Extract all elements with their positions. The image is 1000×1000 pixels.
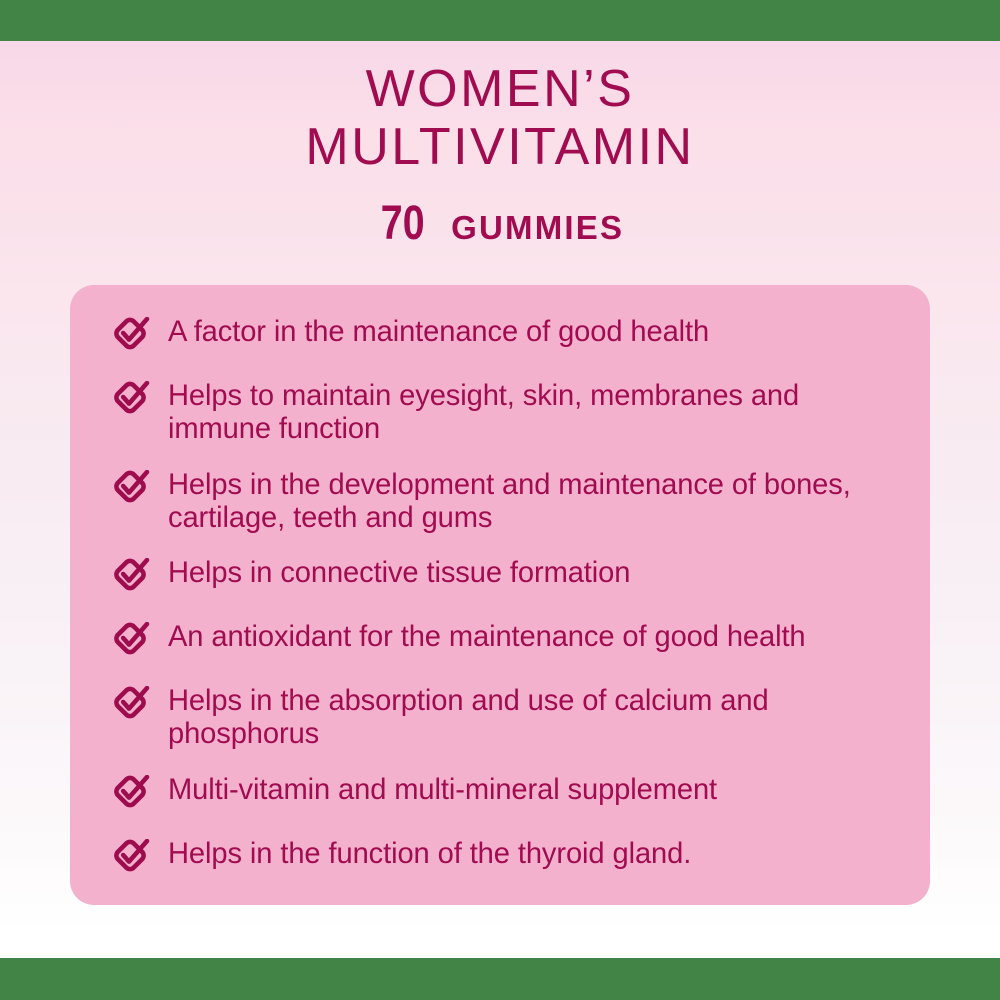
gummy-count-number: 70 — [381, 200, 425, 248]
check-diamond-icon — [108, 686, 152, 726]
product-heading: WOMEN’S MULTIVITAMIN 70 GUMMIES — [0, 60, 1000, 248]
list-item: Multi-vitamin and multi-mineral suppleme… — [108, 773, 896, 815]
product-title-line-1: WOMEN’S — [0, 60, 1000, 118]
list-item-label: Helps in connective tissue formation — [168, 556, 630, 589]
list-item-label: Helps to maintain eyesight, skin, membra… — [168, 379, 874, 445]
top-green-band — [0, 0, 1000, 41]
list-item-label: An antioxidant for the maintenance of go… — [168, 620, 806, 653]
list-item: A factor in the maintenance of good heal… — [108, 315, 896, 357]
check-diamond-icon — [108, 381, 152, 421]
product-title-line-2: MULTIVITAMIN — [0, 118, 1000, 176]
list-item-label: Multi-vitamin and multi-mineral suppleme… — [168, 773, 717, 806]
list-item-label: Helps in the function of the thyroid gla… — [168, 837, 691, 870]
check-diamond-icon — [108, 470, 152, 510]
check-diamond-icon — [108, 839, 152, 879]
product-label-panel: WOMEN’S MULTIVITAMIN 70 GUMMIES A factor… — [0, 0, 1000, 1000]
list-item: Helps in the development and maintenance… — [108, 468, 896, 534]
benefits-card: A factor in the maintenance of good heal… — [70, 285, 930, 905]
list-item: An antioxidant for the maintenance of go… — [108, 620, 896, 662]
list-item: Helps in connective tissue formation — [108, 556, 896, 598]
list-item-label: Helps in the absorption and use of calci… — [168, 684, 874, 750]
list-item: Helps in the absorption and use of calci… — [108, 684, 896, 750]
check-diamond-icon — [108, 775, 152, 815]
gummy-count-row: 70 GUMMIES — [0, 200, 1000, 248]
bottom-green-band — [0, 958, 1000, 1000]
list-item-label: A factor in the maintenance of good heal… — [168, 315, 709, 348]
check-diamond-icon — [108, 317, 152, 357]
list-item-label: Helps in the development and maintenance… — [168, 468, 874, 534]
gummy-count-unit: GUMMIES — [451, 208, 624, 248]
check-diamond-icon — [108, 622, 152, 662]
check-diamond-icon — [108, 558, 152, 598]
list-item: Helps to maintain eyesight, skin, membra… — [108, 379, 896, 445]
list-item: Helps in the function of the thyroid gla… — [108, 837, 896, 879]
benefits-list: A factor in the maintenance of good heal… — [108, 315, 896, 879]
